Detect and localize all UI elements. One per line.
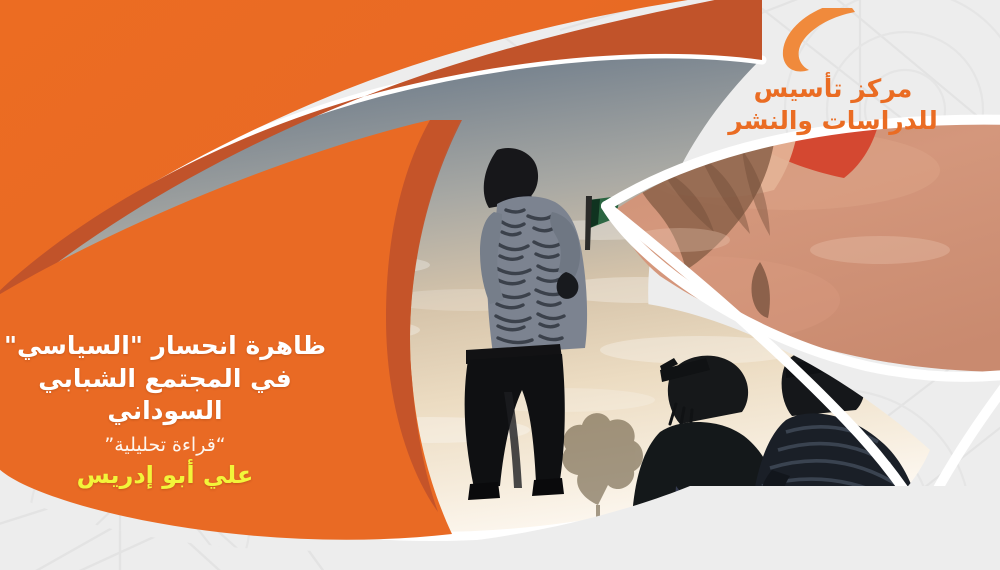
title-line-2: في المجتمع الشبابي (0, 363, 330, 396)
title-block: ظاهرة انحسار "السياسي" في المجتمع الشباب… (0, 330, 330, 490)
author-name: علي أبو إدريس (0, 461, 330, 490)
logo-text-line-1: مركز تأسيس (708, 74, 958, 105)
subtitle: “قراءة تحليلية” (0, 434, 330, 457)
banner-canvas: ظاهرة انحسار "السياسي" في المجتمع الشباب… (0, 0, 1000, 570)
title-line-1: ظاهرة انحسار "السياسي" (0, 330, 330, 363)
title-line-3: السوداني (0, 395, 330, 428)
logo-block[interactable]: مركز تأسيس للدراسات والنشر (708, 8, 958, 136)
crescent-swoosh-logo-icon (708, 8, 958, 74)
logo-text-line-2: للدراسات والنشر (708, 106, 958, 137)
